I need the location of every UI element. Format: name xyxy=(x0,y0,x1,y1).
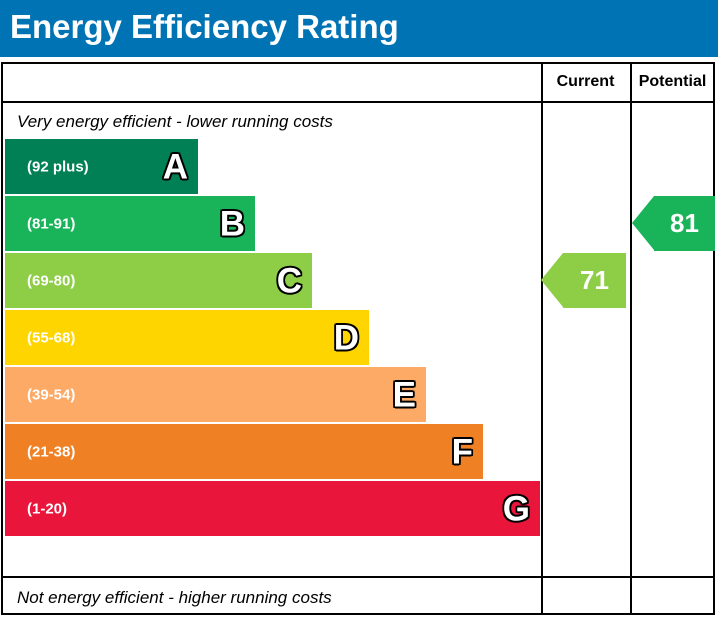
page-title: Energy Efficiency Rating xyxy=(10,8,399,46)
footer-divider xyxy=(3,576,713,578)
band-range-e: (39-54) xyxy=(27,386,75,403)
band-bar-b: (81-91) B xyxy=(5,196,255,251)
band-range-c: (69-80) xyxy=(27,272,75,289)
chart-title-bar: Energy Efficiency Rating xyxy=(0,0,718,57)
current-rating-value: 71 xyxy=(563,253,626,308)
band-range-g: (1-20) xyxy=(27,500,67,517)
potential-column-divider xyxy=(630,64,632,613)
column-header-potential: Potential xyxy=(630,73,715,91)
epc-energy-efficiency-chart: Energy Efficiency Rating Current Potenti… xyxy=(0,0,718,619)
caption-not-efficient: Not energy efficient - higher running co… xyxy=(17,588,332,608)
band-bars: (92 plus) A (81-91) B (69-80) C (55-68) … xyxy=(3,139,541,574)
band-range-d: (55-68) xyxy=(27,329,75,346)
band-bar-d: (55-68) D xyxy=(5,310,369,365)
chart-table: Current Potential Very energy efficient … xyxy=(1,62,715,615)
band-letter-f: F xyxy=(452,434,473,469)
band-range-b: (81-91) xyxy=(27,215,75,232)
current-rating-arrow-icon xyxy=(541,253,563,307)
current-column-divider xyxy=(541,64,543,613)
band-range-f: (21-38) xyxy=(27,443,75,460)
potential-rating-value: 81 xyxy=(654,196,715,251)
band-letter-e: E xyxy=(393,377,416,412)
band-bar-g: (1-20) G xyxy=(5,481,540,536)
band-letter-g: G xyxy=(503,491,530,526)
current-rating-marker: 71 xyxy=(541,253,626,308)
band-letter-b: B xyxy=(220,206,245,241)
band-bar-e: (39-54) E xyxy=(5,367,426,422)
band-bar-f: (21-38) F xyxy=(5,424,483,479)
band-letter-d: D xyxy=(334,320,359,355)
band-bar-a: (92 plus) A xyxy=(5,139,198,194)
band-letter-a: A xyxy=(163,149,188,184)
potential-rating-marker: 81 xyxy=(632,196,715,251)
band-bar-c: (69-80) C xyxy=(5,253,312,308)
band-range-a: (92 plus) xyxy=(27,158,89,175)
band-letter-c: C xyxy=(277,263,302,298)
header-divider xyxy=(3,101,713,103)
potential-rating-arrow-icon xyxy=(632,196,654,250)
caption-very-efficient: Very energy efficient - lower running co… xyxy=(17,112,333,132)
column-header-current: Current xyxy=(541,73,630,91)
